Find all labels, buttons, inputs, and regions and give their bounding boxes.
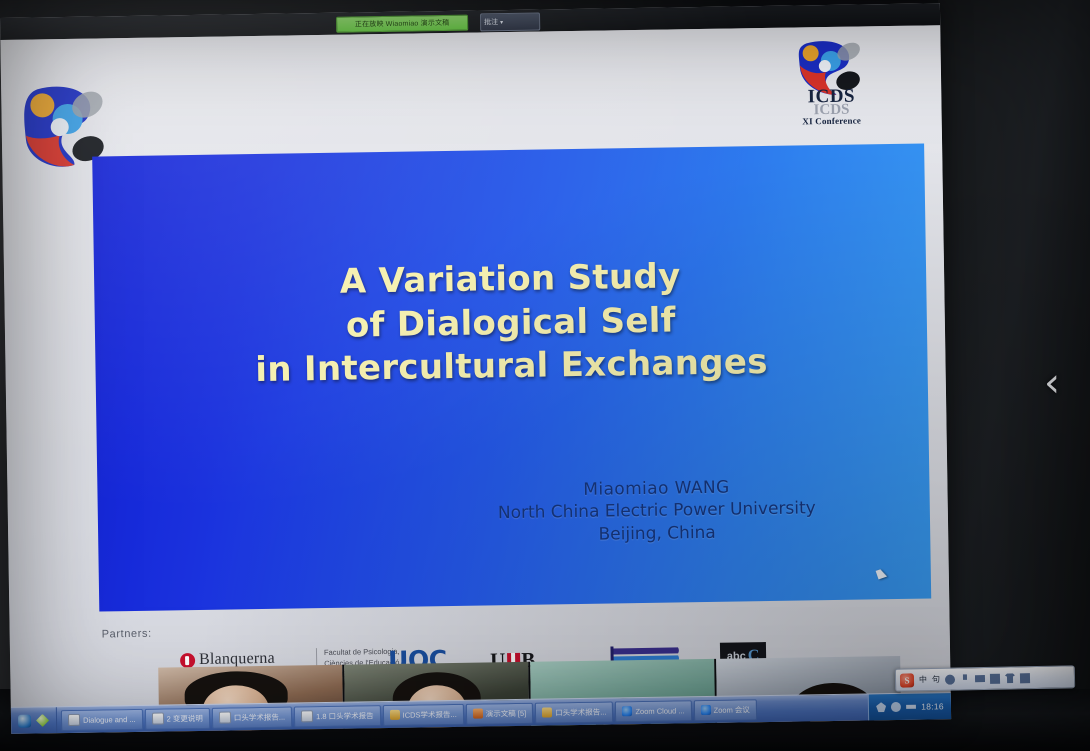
- volume-icon[interactable]: [906, 702, 916, 712]
- slideshow-status-pill: 正在放映 Wiaomiao 演示文稿: [336, 15, 468, 33]
- taskbar-button-label: 演示文稿 [5]: [486, 707, 527, 719]
- taskbar-button-label: Zoom Cloud ...: [635, 706, 684, 716]
- document-icon: [151, 713, 163, 725]
- taskbar-button[interactable]: 口头学术报告...: [535, 701, 614, 723]
- conference-acronym-ghost: ICDS: [779, 102, 883, 119]
- browser-icon[interactable]: [18, 714, 31, 727]
- taskbar-button-label: 2 变更说明: [166, 712, 202, 724]
- taskbar-button[interactable]: Zoom Cloud ...: [615, 700, 692, 722]
- media-player-icon[interactable]: [36, 714, 49, 727]
- zoom-icon: [622, 706, 632, 716]
- taskbar-button-label: 口头学术报告...: [555, 706, 606, 718]
- taskbar-button[interactable]: 演示文稿 [5]: [466, 702, 534, 724]
- slideshow-control-label: 批注: [484, 17, 498, 27]
- quick-launch-group: [11, 707, 57, 734]
- taskbar-button[interactable]: 1.8 口头学术报告: [294, 705, 381, 727]
- zoom-icon: [701, 705, 711, 715]
- skin-icon[interactable]: [1005, 673, 1015, 683]
- ime-punctuation-label[interactable]: 句: [932, 674, 940, 685]
- chevron-left-icon[interactable]: ‹: [1044, 363, 1070, 405]
- slideshow-status-text: 正在放映 Wiaomiao 演示文稿: [355, 18, 450, 29]
- blanquerna-mark-icon: [180, 653, 195, 668]
- envelope-icon[interactable]: [975, 674, 985, 684]
- document-icon: [219, 711, 231, 723]
- taskbar-button[interactable]: Zoom 会议: [693, 699, 757, 721]
- taskbar-button[interactable]: Dialogue and ...: [61, 708, 143, 730]
- mouse-cursor-icon: [876, 568, 887, 579]
- powerpoint-icon: [473, 709, 483, 719]
- chevron-down-icon: ▾: [500, 19, 503, 26]
- sogou-logo-icon[interactable]: S: [900, 673, 914, 687]
- photo-of-monitor: 正在放映 Wiaomiao 演示文稿 批注 ▾: [0, 0, 1090, 751]
- network-icon[interactable]: [891, 702, 901, 712]
- slide-title: A Variation Study of Dialogical Self in …: [94, 251, 928, 395]
- taskbar-button[interactable]: 2 变更说明: [144, 707, 210, 729]
- document-icon: [301, 710, 313, 722]
- taskbar-button[interactable]: 口头学术报告...: [212, 706, 293, 728]
- partners-label: Partners:: [102, 628, 152, 641]
- taskbar-button-label: ICDS学术报告...: [403, 708, 457, 720]
- toolbox-icon[interactable]: [1020, 673, 1030, 683]
- shield-icon[interactable]: [876, 702, 886, 712]
- ime-mode-label[interactable]: 中: [919, 674, 927, 685]
- slide-body: A Variation Study of Dialogical Self in …: [92, 144, 931, 612]
- taskbar-button-label: Zoom 会议: [714, 704, 750, 716]
- document-icon: [68, 714, 80, 726]
- slide-canvas: ICDS ICDS XI Conference A Variation Stud…: [0, 25, 951, 734]
- clock-icon[interactable]: [945, 674, 955, 684]
- taskbar-button-label: 口头学术报告...: [234, 711, 285, 723]
- slideshow-control-box[interactable]: 批注 ▾: [480, 13, 540, 32]
- taskbar-clock[interactable]: 18:16: [921, 701, 944, 711]
- sogou-ime-toolbar[interactable]: S 中 句: [895, 665, 1075, 691]
- folder-icon: [390, 710, 400, 720]
- monitor-screen: 正在放映 Wiaomiao 演示文稿 批注 ▾: [0, 3, 951, 734]
- taskbar-button[interactable]: ICDS学术报告...: [382, 703, 463, 725]
- slide-author-block: Miaomiao WANG North China Electric Power…: [421, 474, 892, 549]
- taskbar-button-label: Dialogue and ...: [83, 714, 136, 724]
- folder-icon: [542, 707, 552, 717]
- umbrella-icon[interactable]: [990, 673, 1000, 683]
- taskbar-button-label: 1.8 口头学术报告: [316, 710, 374, 722]
- conference-logo-caption: ICDS ICDS XI Conference: [779, 86, 884, 127]
- microphone-icon[interactable]: [960, 674, 970, 684]
- system-tray: 18:16: [868, 693, 951, 720]
